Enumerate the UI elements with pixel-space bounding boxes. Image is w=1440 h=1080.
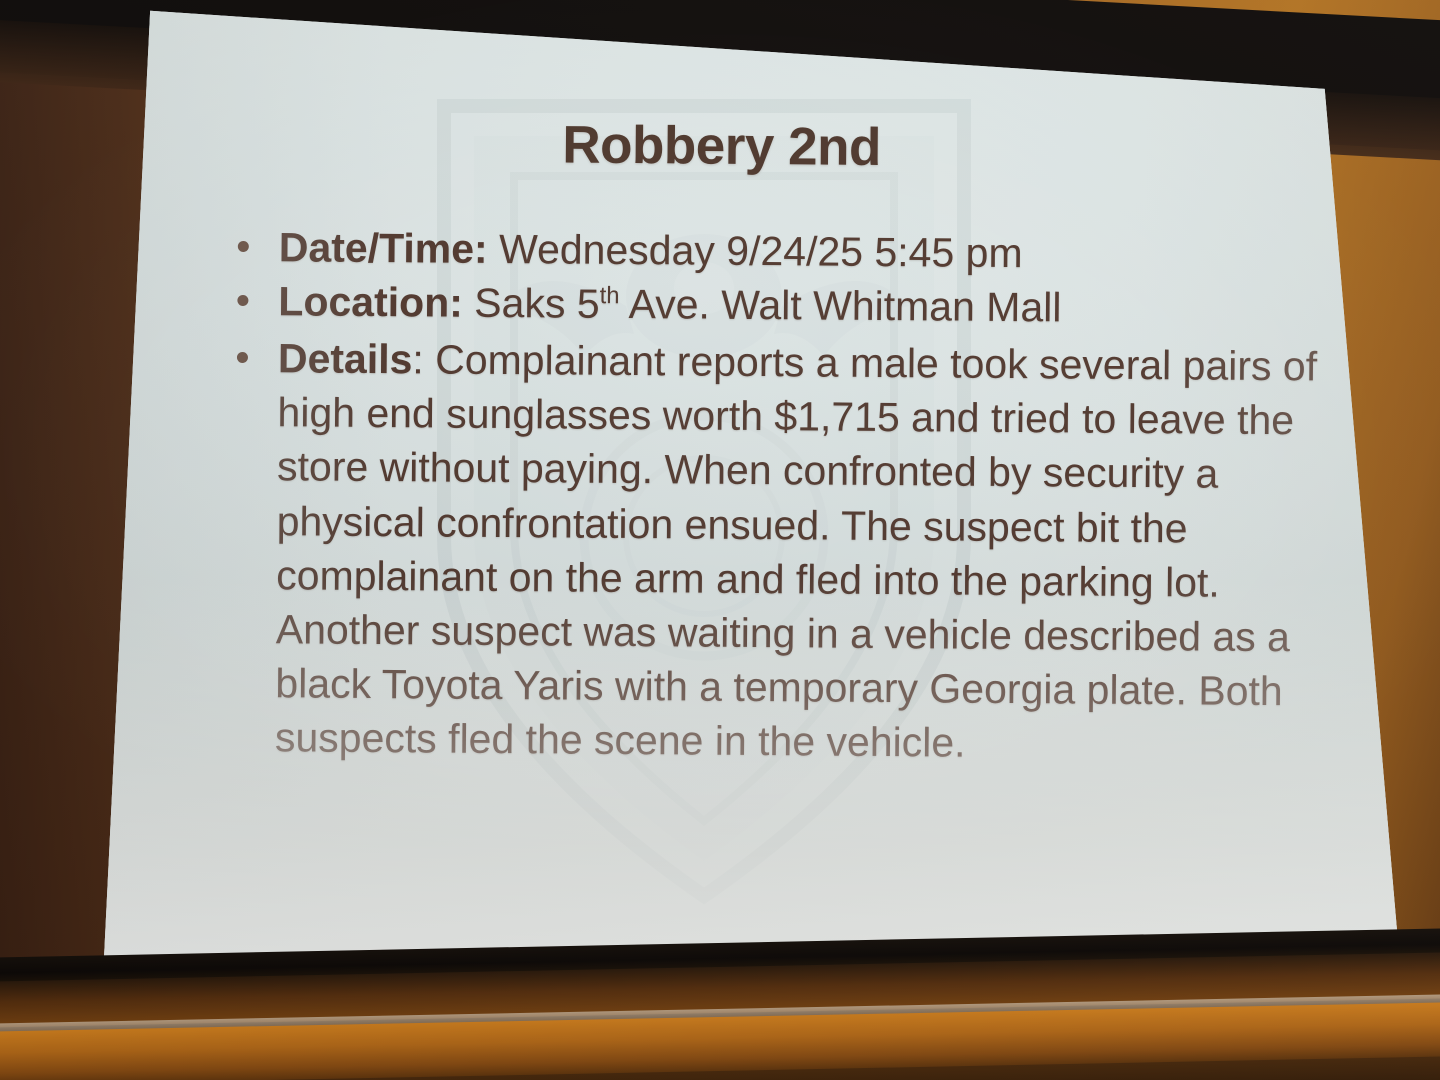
projection-screen: Robbery 2nd Date/Time: Wednesday 9/24/25… [104, 6, 1404, 958]
photo-scene: Robbery 2nd Date/Time: Wednesday 9/24/25… [0, 0, 1440, 1080]
screen-light-vignette [104, 6, 1404, 958]
